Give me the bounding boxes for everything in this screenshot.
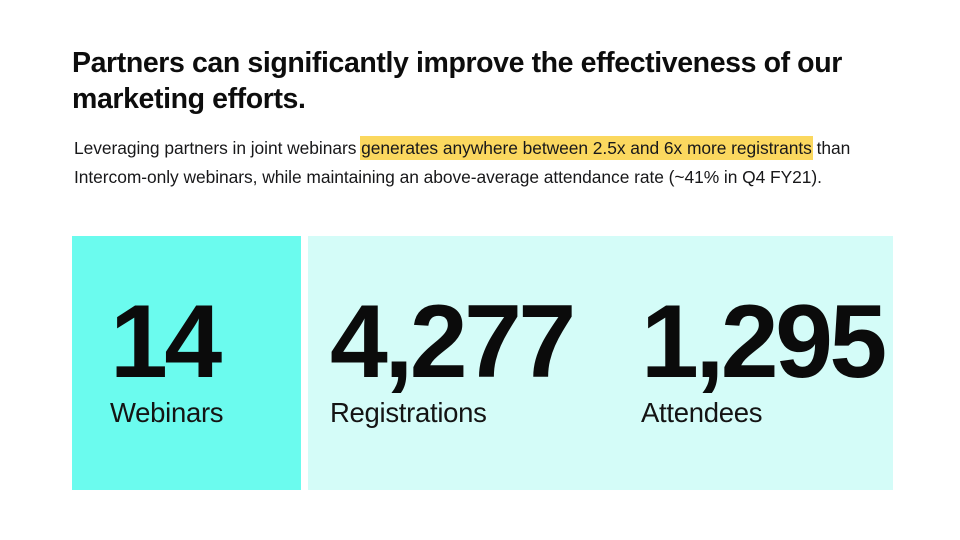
- slide-canvas: Partners can significantly improve the e…: [0, 0, 960, 540]
- body-paragraph: Leveraging partners in joint webinars ge…: [74, 134, 884, 191]
- stat-value-attendees: 1,295: [641, 290, 884, 394]
- stat-value-registrations: 4,277: [330, 290, 573, 394]
- stat-label-webinars: Webinars: [110, 396, 223, 430]
- stat-block-webinars: 14 Webinars: [110, 236, 270, 490]
- stat-label-attendees: Attendees: [641, 396, 762, 430]
- page-title: Partners can significantly improve the e…: [72, 45, 902, 117]
- stat-block-registrations: 4,277 Registrations: [330, 236, 600, 490]
- stat-block-attendees: 1,295 Attendees: [641, 236, 901, 490]
- body-segment-plain-1: Leveraging partners in joint webinars: [74, 138, 361, 158]
- stat-label-registrations: Registrations: [330, 396, 487, 430]
- stat-value-webinars: 14: [110, 290, 219, 394]
- body-segment-highlighted: generates anywhere between 2.5x and 6x m…: [361, 137, 812, 159]
